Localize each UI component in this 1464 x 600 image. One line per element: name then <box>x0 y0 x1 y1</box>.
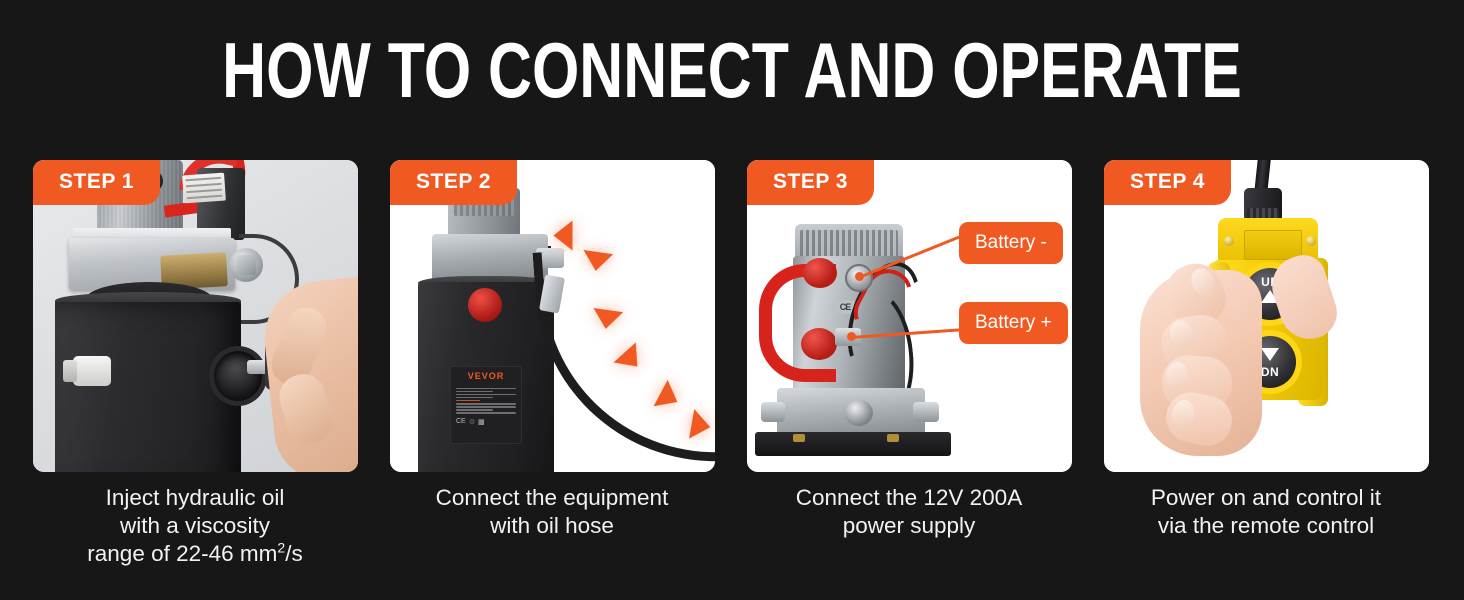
screw-icon <box>1306 236 1316 246</box>
caption-text: /s <box>285 541 303 566</box>
step-3-photo: CE Battery - Battery + <box>747 160 1072 472</box>
ce-mark-icon: CE <box>456 418 466 425</box>
recycle-icon: ♲ <box>469 418 475 426</box>
step-badge-1: STEP 1 <box>33 160 160 205</box>
caption-line: with a viscosity <box>15 512 375 540</box>
solenoid-label <box>182 173 226 204</box>
red-knob <box>801 328 837 360</box>
cable-gland <box>1244 188 1282 222</box>
brand-tagline <box>456 382 516 386</box>
page-title: HOW TO CONNECT AND OPERATE <box>161 28 1303 112</box>
step-panel-4: UP DN STEP 4 <box>1104 160 1429 472</box>
step-1-photo <box>33 160 358 472</box>
caption-line: power supply <box>729 512 1089 540</box>
step-2-photo: VEVOR CE ♲ ▩ <box>390 160 715 472</box>
callout-anchor-dot <box>855 272 864 281</box>
step-badge-2: STEP 2 <box>390 160 517 205</box>
brass-fitting <box>793 434 805 442</box>
step-badge-3: STEP 3 <box>747 160 874 205</box>
brass-fitting <box>887 434 899 442</box>
white-plug <box>73 356 111 386</box>
step-badge-4: STEP 4 <box>1104 160 1231 205</box>
flow-arrow-icon <box>554 221 573 251</box>
infographic-page: HOW TO CONNECT AND OPERATE <box>0 0 1464 600</box>
step-4-photo: UP DN <box>1104 160 1429 472</box>
step-caption-2: Connect the equipment with oil hose <box>372 484 732 540</box>
bolt <box>913 402 939 422</box>
caption-line: Inject hydraulic oil <box>15 484 375 512</box>
caption-line: Connect the equipment <box>372 484 732 512</box>
arrow-down-icon <box>1261 348 1279 361</box>
step-panel-2: VEVOR CE ♲ ▩ STEP 2 <box>390 160 715 472</box>
bolt <box>761 402 785 422</box>
caption-line: via the remote control <box>1086 512 1446 540</box>
caption-text: range of 22-46 mm <box>87 541 277 566</box>
screw-icon <box>1224 236 1234 246</box>
caption-line: Power on and control it <box>1086 484 1446 512</box>
red-filler-cap <box>468 288 502 322</box>
certification-marks: CE ♲ ▩ <box>456 418 516 426</box>
base-plate <box>755 432 951 456</box>
step-caption-1: Inject hydraulic oil with a viscosity ra… <box>15 484 375 568</box>
step-panel-1: STEP 1 <box>33 160 358 472</box>
step-panel-3: CE Battery - Battery + ST <box>747 160 1072 472</box>
port-fitting <box>845 400 873 426</box>
flow-arrow-icon <box>581 250 613 273</box>
step-caption-4: Power on and control it via the remote c… <box>1086 484 1446 540</box>
caption-line: Connect the 12V 200A <box>729 484 1089 512</box>
brand-logo: VEVOR <box>456 371 516 381</box>
fill-port <box>209 346 267 406</box>
weee-icon: ▩ <box>478 418 485 426</box>
callout-battery-negative: Battery - <box>959 222 1063 264</box>
remote-nameplate <box>1244 230 1302 260</box>
callout-anchor-dot <box>847 332 856 341</box>
red-knob <box>803 258 837 288</box>
caption-line: with oil hose <box>372 512 732 540</box>
product-spec-label: VEVOR CE ♲ ▩ <box>450 366 522 444</box>
flow-arrow-icon <box>591 308 623 331</box>
caption-line: range of 22-46 mm2/s <box>15 540 375 568</box>
step-caption-3: Connect the 12V 200A power supply <box>729 484 1089 540</box>
callout-battery-positive: Battery + <box>959 302 1068 344</box>
steps-container: STEP 1 VEVOR CE ♲ <box>33 160 1433 474</box>
